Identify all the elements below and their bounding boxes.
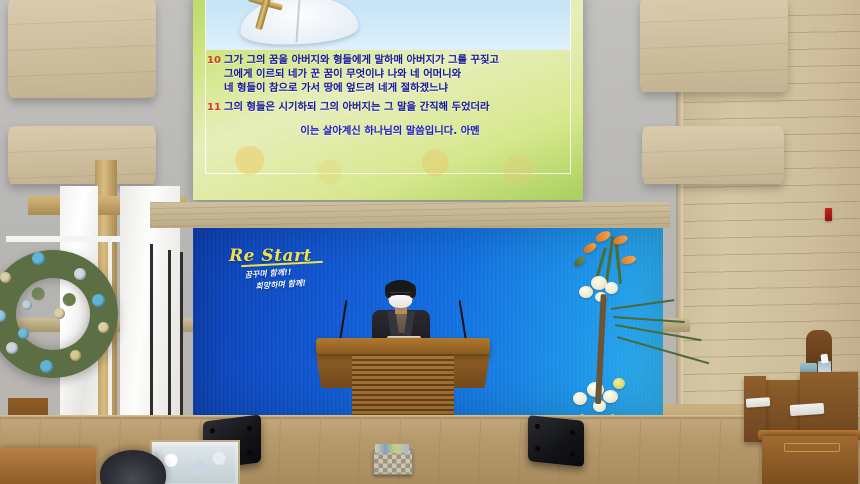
ornament: [54, 308, 65, 319]
tissue-sheet: [820, 354, 828, 364]
flower-stem: [615, 242, 622, 284]
logo-script: 꿈꾸며 함께!! 희망하며 함께!: [244, 264, 323, 293]
ornament: [6, 342, 18, 354]
verse-line: 그가 그의 꿈을 아버지와 형들에게 말하매 아버지가 그를 꾸짖고: [224, 54, 499, 68]
white-lily: [573, 392, 587, 405]
ornament: [40, 360, 53, 373]
church-sanctuary-photo: 창 37:10-11 10 그가 그의 꿈을 아버지와 형들에게 말하매 아버지…: [0, 0, 860, 484]
ornament: [70, 350, 81, 361]
ornament: [22, 300, 32, 310]
ornament: [0, 272, 11, 283]
floor-monitor-speaker-right: [528, 415, 584, 467]
chair-cloth-right: [790, 403, 825, 416]
ornament: [74, 268, 86, 280]
logo-script-line2: 희망하며 함께!: [255, 276, 324, 292]
closing-line: 이는 살아계신 하나님의 말씀입니다. 아멘: [207, 122, 573, 137]
white-lily: [603, 390, 618, 403]
pine-branch: [613, 316, 685, 323]
logo-text: Re Start: [229, 246, 323, 266]
acoustic-panel-upper-left: [8, 0, 156, 98]
verse-row: 네 형들이 참으로 가서 땅에 엎드려 네게 절하겠느냐: [207, 82, 573, 96]
pulpit-desktop: [316, 338, 490, 354]
pulpit-wing-left: [316, 354, 354, 388]
acoustic-panel-lower-left: [8, 126, 156, 184]
side-podium-inlay: [784, 443, 840, 452]
front-table: [0, 448, 96, 484]
projection-screen: 창 37:10-11 10 그가 그의 꿈을 아버지와 형들에게 말하매 아버지…: [193, 0, 583, 200]
logo-underline: [241, 261, 323, 267]
yellow-bloom: [613, 378, 625, 389]
verse-row: 11 그의 형들은 시기하되 그의 아버지는 그 말을 간직해 두었더라: [207, 101, 573, 115]
ornament: [32, 252, 45, 265]
verse-number: 10: [207, 54, 220, 67]
leaf-blade: [572, 255, 586, 269]
verse-number: 11: [207, 101, 220, 114]
wall-panel-under-screen: [150, 202, 670, 228]
main-branch: [595, 294, 607, 404]
verse-row: 그에게 이르되 네가 꾼 꿈이 무엇이냐 나와 네 어머니와: [207, 68, 573, 82]
verse-row: 10 그가 그의 꿈을 아버지와 형들에게 말하매 아버지가 그를 꾸짖고: [207, 54, 573, 68]
white-lily: [579, 286, 593, 298]
chair-cloth-left: [746, 397, 771, 408]
bird-of-paradise: [582, 241, 598, 255]
ornament: [98, 322, 109, 333]
ornament: [18, 328, 29, 339]
acoustic-panel-lower-right: [642, 126, 784, 184]
bird-of-paradise: [594, 229, 612, 244]
pine-branch: [611, 299, 675, 310]
ornament: [92, 294, 105, 307]
verse-line: 네 형들이 참으로 가서 땅에 엎드려 네게 절하겠느냐: [224, 82, 448, 96]
bird-of-paradise: [612, 234, 629, 246]
verse-line: 그에게 이르되 네가 꾼 꿈이 무엇이냐 나와 네 어머니와: [224, 68, 461, 82]
wreath-frame-top: [6, 236, 120, 242]
basket-contents: [375, 444, 409, 453]
pulpit-wing-right: [452, 354, 490, 388]
restart-logo: Re Start 꿈꾸며 함께!! 희망하며 함께!: [229, 246, 323, 290]
logo-script-line1: 꿈꾸며 함께!!: [244, 264, 323, 281]
christmas-wreath: [0, 250, 118, 378]
fire-alarm-icon: [825, 208, 832, 221]
stage-platform-edge: [0, 415, 860, 419]
verse-block: 10 그가 그의 꿈을 아버지와 형들에게 말하매 아버지가 그를 꾸짖고 그에…: [207, 54, 573, 137]
acoustic-panel-upper-right: [640, 0, 788, 92]
verse-line: 그의 형들은 시기하되 그의 아버지는 그 말을 간직해 두었더라: [224, 101, 490, 115]
white-lily: [605, 282, 618, 294]
bird-of-paradise: [620, 255, 636, 266]
face-mask: [389, 295, 412, 308]
preacher: [362, 282, 440, 344]
